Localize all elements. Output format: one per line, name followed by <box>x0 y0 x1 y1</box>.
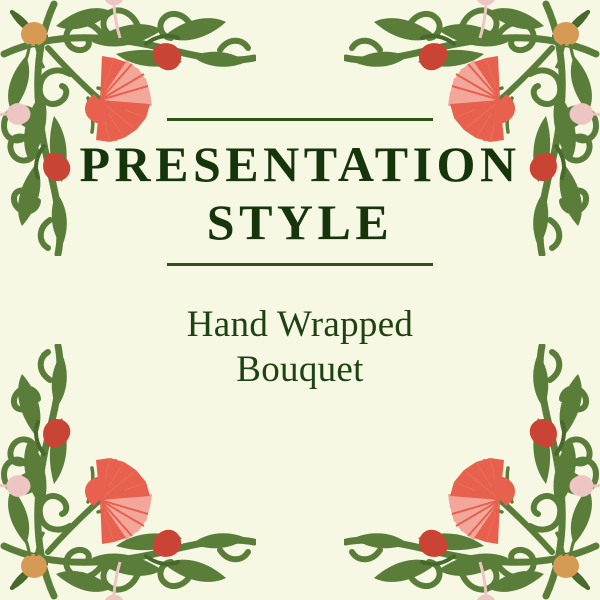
ornament-pink-buds <box>475 475 600 600</box>
ornament-pink-buds <box>0 475 125 600</box>
ornament-flower-sepals <box>88 468 132 512</box>
ornament-accent-sprigs <box>12 422 178 588</box>
page-title: PRESENTATION STYLE <box>0 135 600 251</box>
flower-petals-light <box>448 60 500 106</box>
ornament-pink-buds <box>0 0 125 125</box>
ornament-leaves-horizontal <box>56 8 246 67</box>
ornament-berries <box>43 419 181 557</box>
flower-base <box>85 477 108 506</box>
page-subtitle: Hand Wrapped Bouquet <box>0 266 600 392</box>
page-title-line-1: PRESENTATION <box>79 136 520 192</box>
ornament-flower-sepals <box>468 468 512 512</box>
ornament-leaves-horizontal <box>354 533 544 592</box>
page-subtitle-line-1: Hand Wrapped <box>0 302 600 347</box>
flower-petal-outlines <box>100 459 148 536</box>
divider-rule-top <box>167 118 433 121</box>
flower-petals-main <box>96 458 150 544</box>
flower-petal-outlines <box>452 459 500 536</box>
page-subtitle-line-2: Bouquet <box>0 347 600 392</box>
ornament-gold-bud <box>21 532 47 578</box>
flower-petals-light <box>100 60 152 106</box>
ornament-leaves-horizontal <box>354 8 544 67</box>
page-title-line-2: STYLE <box>10 193 590 251</box>
flower-petals-main <box>450 458 504 544</box>
ornament-accent-sprigs <box>422 422 588 588</box>
ornament-flower <box>85 458 152 544</box>
ornament-gold-bud <box>21 22 47 68</box>
flower-petals-light <box>100 494 152 540</box>
ornament-pink-buds <box>475 0 600 125</box>
ornament-berries <box>419 419 557 557</box>
ornament-flower <box>448 458 515 544</box>
flower-petals-light <box>448 494 500 540</box>
presentation-style-card: PRESENTATION STYLE Hand Wrapped Bouquet <box>0 0 600 600</box>
ornament-gold-bud <box>553 532 579 578</box>
ornament-leaves-horizontal <box>56 533 246 592</box>
flower-base <box>492 477 515 506</box>
ornament-gold-bud <box>553 22 579 68</box>
card-text-block: PRESENTATION STYLE Hand Wrapped Bouquet <box>0 118 600 392</box>
